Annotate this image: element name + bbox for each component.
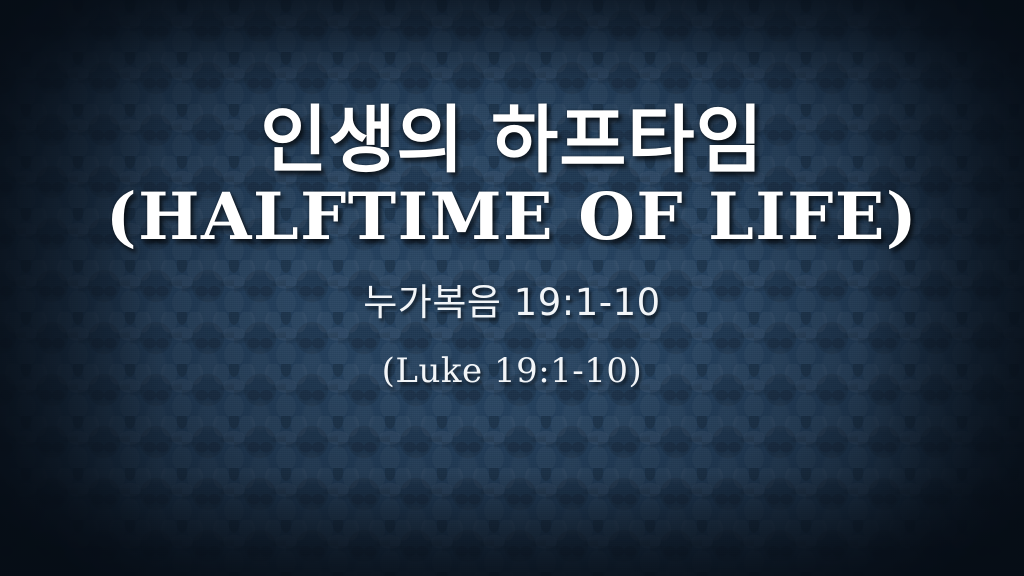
title-slide: 인생의 하프타임 (HALFTIME OF LIFE) 누가복음 19:1-10… xyxy=(0,0,1024,576)
scripture-reference-english: (Luke 19:1-10) xyxy=(382,354,643,388)
slide-title-english: (HALFTIME OF LIFE) xyxy=(106,185,918,250)
scripture-reference-korean: 누가복음 19:1-10 xyxy=(363,284,660,321)
slide-title-korean: 인생의 하프타임 xyxy=(260,104,764,177)
slide-content: 인생의 하프타임 (HALFTIME OF LIFE) 누가복음 19:1-10… xyxy=(0,0,1024,576)
